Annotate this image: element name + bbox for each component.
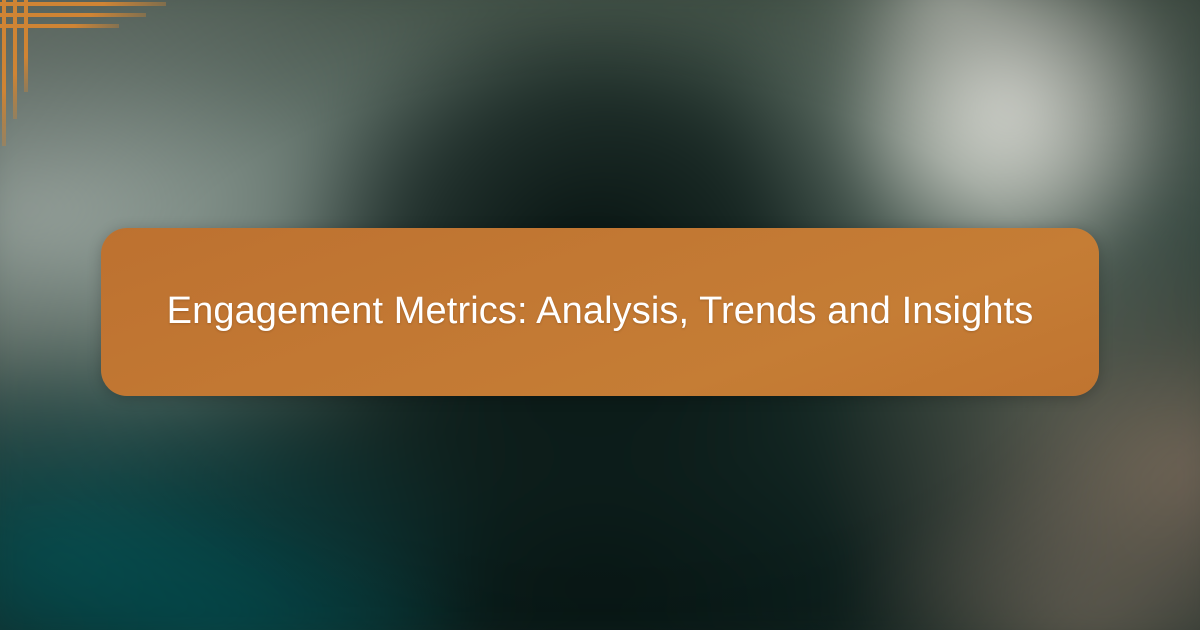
page-title: Engagement Metrics: Analysis, Trends and… [167,283,1034,341]
title-card: Engagement Metrics: Analysis, Trends and… [101,228,1099,396]
slide-canvas: Engagement Metrics: Analysis, Trends and… [0,0,1200,630]
